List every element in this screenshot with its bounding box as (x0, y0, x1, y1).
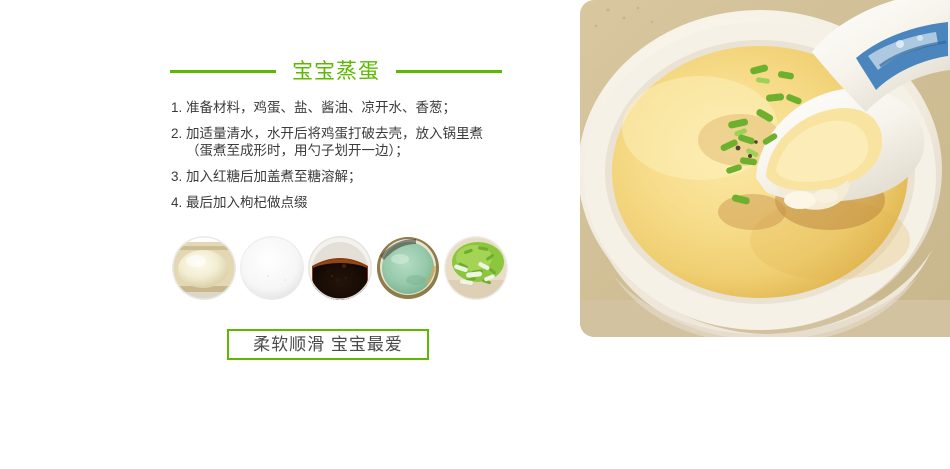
step-text-main: 最后加入枸杞做点缀 (186, 195, 308, 210)
recipe-step: 2. 加适量清水，水开后将鸡蛋打破去壳，放入锅里煮 （蛋煮至成形时，用勺子划开一… (171, 125, 511, 159)
scallion-icon (444, 236, 508, 300)
steamed-egg-custard-photo (580, 0, 950, 337)
step-text: 加适量清水，水开后将鸡蛋打破去壳，放入锅里煮 （蛋煮至成形时，用勺子划开一边）； (186, 125, 511, 159)
recipe-title-row: 宝宝蒸蛋 (170, 56, 502, 86)
step-text: 加入红糖后加盖煮至糖溶解； (186, 168, 511, 185)
step-number: 4. (171, 194, 186, 211)
recipe-step: 4. 最后加入枸杞做点缀 (171, 194, 511, 211)
tagline-text: 柔软顺滑 宝宝最爱 (253, 336, 403, 353)
step-number: 2. (171, 125, 186, 142)
water-bowl-thumbnail (376, 236, 440, 300)
egg-thumbnail (172, 236, 236, 300)
soy-sauce-icon (308, 236, 372, 300)
recipe-step: 3. 加入红糖后加盖煮至糖溶解； (171, 168, 511, 185)
salt-icon (240, 236, 304, 300)
step-text: 准备材料，鸡蛋、盐、酱油、凉开水、香葱； (186, 99, 511, 116)
page-title: 宝宝蒸蛋 (292, 61, 380, 82)
recipe-steps-list: 1. 准备材料，鸡蛋、盐、酱油、凉开水、香葱； 2. 加适量清水，水开后将鸡蛋打… (171, 99, 511, 220)
step-text: 最后加入枸杞做点缀 (186, 194, 511, 211)
title-rule-left (170, 70, 276, 73)
step-text-main: 准备材料，鸡蛋、盐、酱油、凉开水、香葱； (186, 100, 456, 115)
step-text-main: 加入红糖后加盖煮至糖溶解； (186, 169, 362, 184)
step-text-continuation: （蛋煮至成形时，用勺子划开一边）； (186, 142, 511, 159)
recipe-panel: 宝宝蒸蛋 1. 准备材料，鸡蛋、盐、酱油、凉开水、香葱； 2. 加适量清水，水开… (0, 0, 580, 469)
ingredient-thumbnail-row (172, 236, 502, 300)
scallion-thumbnail (444, 236, 508, 300)
title-rule-right (396, 70, 502, 73)
steamed-egg-photo-illustration (580, 0, 950, 337)
recipe-step: 1. 准备材料，鸡蛋、盐、酱油、凉开水、香葱； (171, 99, 511, 116)
tagline-box: 柔软顺滑 宝宝最爱 (227, 329, 429, 360)
step-number: 1. (171, 99, 186, 116)
egg-icon (172, 236, 236, 300)
soy-sauce-thumbnail (308, 236, 372, 300)
step-number: 3. (171, 168, 186, 185)
step-text-main: 加适量清水，水开后将鸡蛋打破去壳，放入锅里煮 (186, 126, 483, 141)
salt-thumbnail (240, 236, 304, 300)
water-bowl-icon (376, 236, 440, 300)
